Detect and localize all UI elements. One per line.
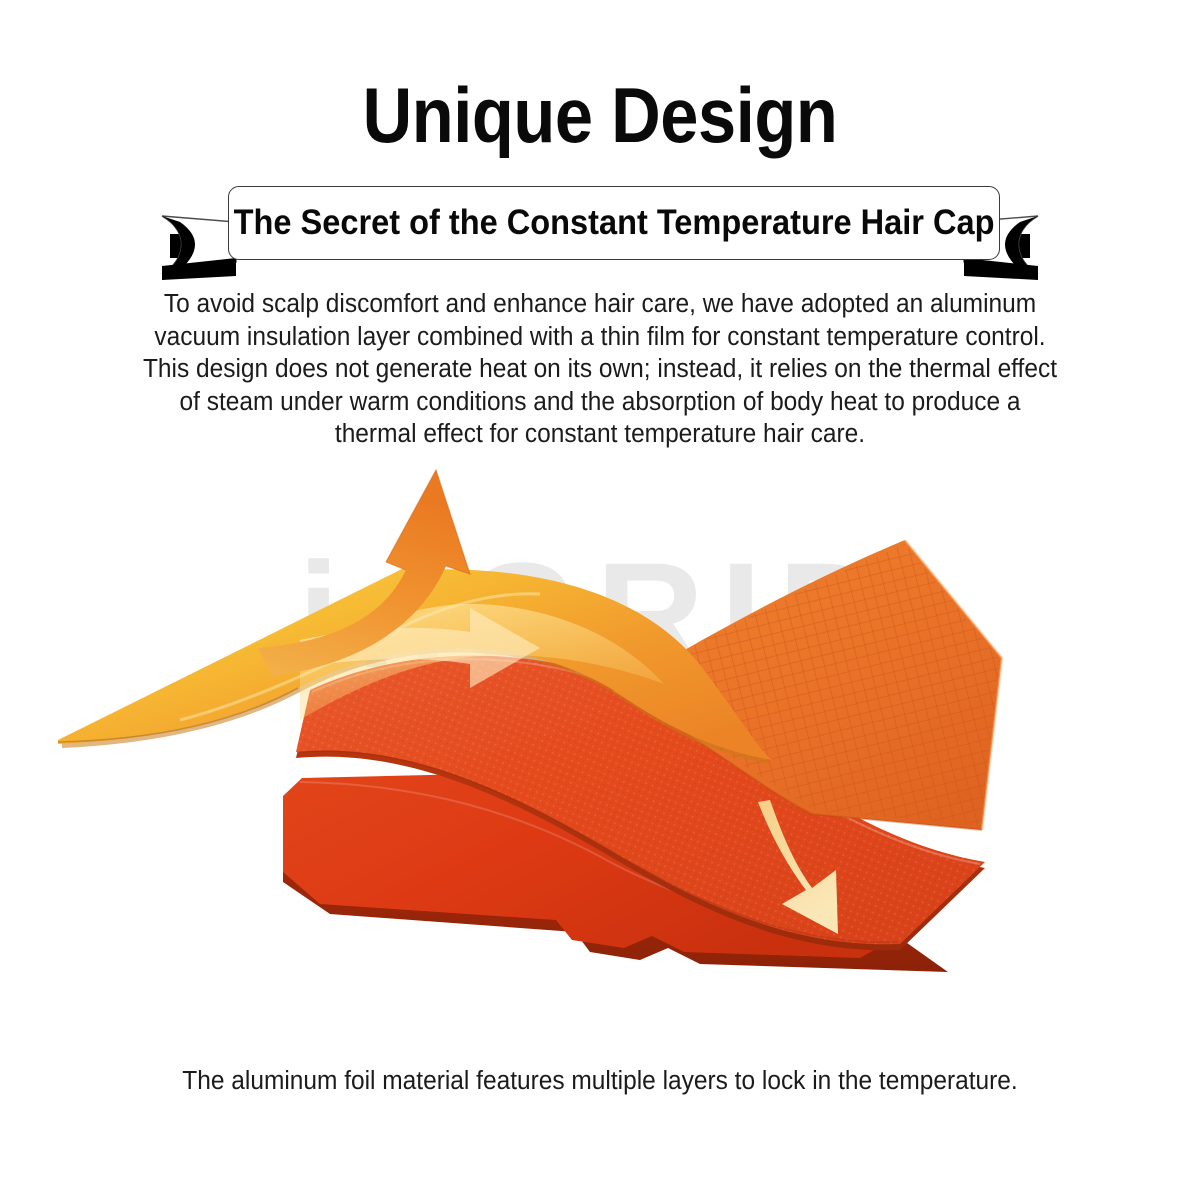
page-title: Unique Design	[72, 70, 1128, 160]
product-feature-page: Unique Design The Secret of the Constant…	[0, 0, 1200, 1200]
ribbon-plate: The Secret of the Constant Temperature H…	[228, 186, 1000, 260]
layered-fabric-illustration	[0, 452, 1200, 1032]
ribbon-label: The Secret of the Constant Temperature H…	[234, 204, 995, 242]
footer-caption: The aluminum foil material features mult…	[120, 1065, 1080, 1097]
ribbon-banner: The Secret of the Constant Temperature H…	[0, 186, 1200, 282]
description-paragraph: To avoid scalp discomfort and enhance ha…	[137, 288, 1062, 451]
